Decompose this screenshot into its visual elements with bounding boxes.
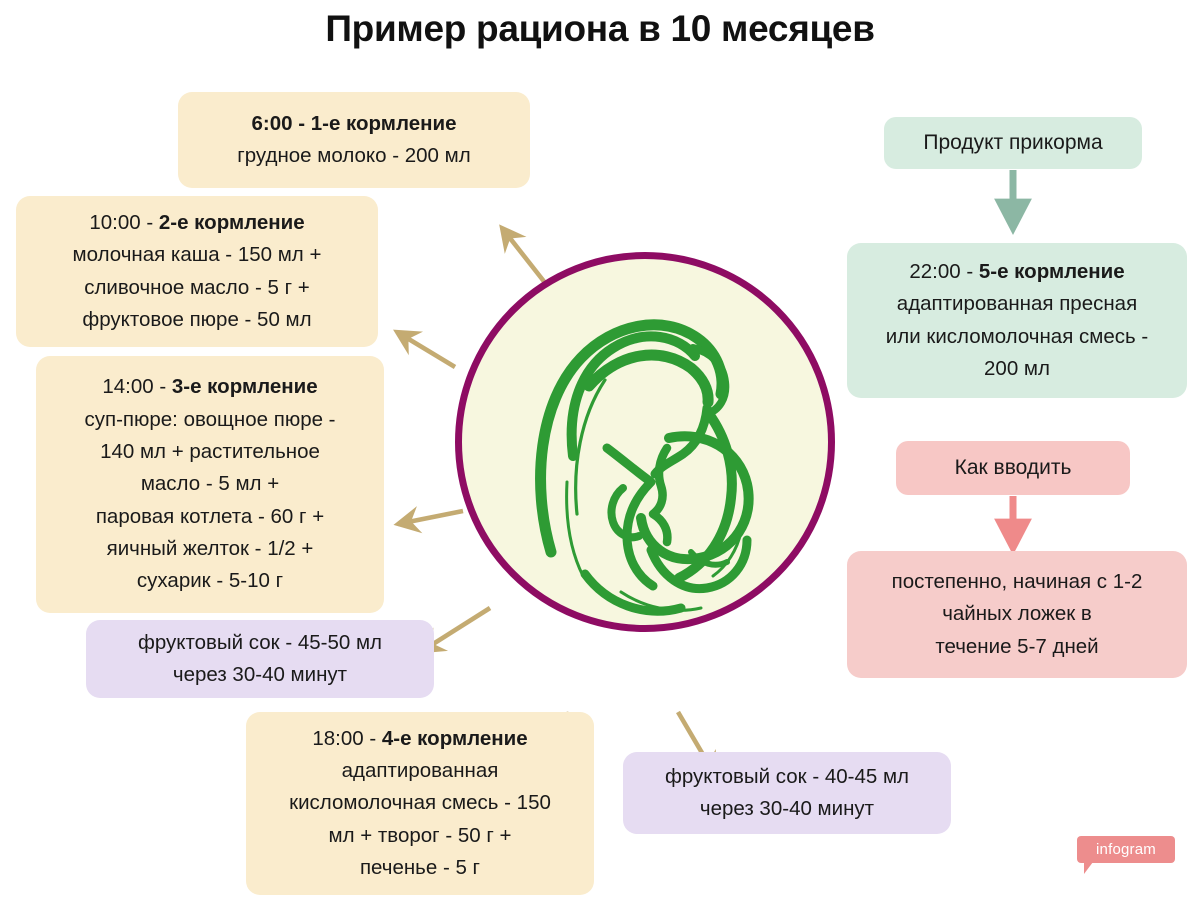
feeding-4-heading: 18:00 - 4-е кормление: [260, 723, 580, 755]
feeding-3-line-6: сухарик - 5-10 г: [50, 565, 370, 597]
feeding-3-line-2: 140 мл + растительное: [50, 436, 370, 468]
juice-1-line-2: через 30-40 минут: [100, 659, 420, 691]
howto-line-3: течение 5-7 дней: [861, 631, 1173, 663]
legend-complementary-label: Продукт прикорма: [884, 117, 1142, 169]
arrow-to-feeding-3: [398, 511, 463, 524]
feeding-card-5: 22:00 - 5-е кормление адаптированная пре…: [847, 243, 1187, 398]
page-title: Пример рациона в 10 месяцев: [0, 8, 1200, 50]
arrow-to-feeding-2: [397, 332, 455, 367]
feeding-card-4: 18:00 - 4-е кормление адаптированная кис…: [246, 712, 594, 895]
legend-howto-label: Как вводить: [896, 441, 1130, 495]
feeding-card-3: 14:00 - 3-е кормление суп-пюре: овощное …: [36, 356, 384, 613]
feeding-2-line-3: фруктовое пюре - 50 мл: [30, 304, 364, 336]
center-illustration: [455, 252, 835, 632]
legend-howto-detail-card: постепенно, начиная с 1-2 чайных ложек в…: [847, 551, 1187, 678]
juice-2-line-1: фруктовый сок - 40-45 мл: [637, 761, 937, 793]
feeding-3-line-5: яичный желток - 1/2 +: [50, 533, 370, 565]
feeding-3-line-4: паровая котлета - 60 г +: [50, 501, 370, 533]
feeding-1-heading: 6:00 - 1-е кормление: [192, 108, 516, 140]
feeding-4-line-2: кисломолочная смесь - 150: [260, 787, 580, 819]
feeding-3-line-3: масло - 5 мл +: [50, 468, 370, 500]
infographic-canvas: Пример рациона в 10 месяцев: [0, 0, 1200, 899]
feeding-3-heading: 14:00 - 3-е кормление: [50, 371, 370, 403]
legend-complementary-text: Продукт прикорма: [923, 131, 1102, 155]
feeding-5-heading: 22:00 - 5-е кормление: [861, 256, 1173, 288]
howto-line-2: чайных ложек в: [861, 598, 1173, 630]
watermark-bubble-tail: [1084, 862, 1093, 874]
feeding-2-line-1: молочная каша - 150 мл +: [30, 239, 364, 271]
howto-line-1: постепенно, начиная с 1-2: [861, 566, 1173, 598]
feeding-5-line-2: или кисломолочная смесь -: [861, 321, 1173, 353]
feeding-3-line-1: суп-пюре: овощное пюре -: [50, 404, 370, 436]
feeding-card-1: 6:00 - 1-е кормление грудное молоко - 20…: [178, 92, 530, 188]
watermark-label: infogram: [1077, 836, 1175, 863]
feeding-4-line-4: печенье - 5 г: [260, 852, 580, 884]
watermark: infogram: [1077, 836, 1175, 870]
feeding-4-line-1: адаптированная: [260, 755, 580, 787]
juice-note-card-1: фруктовый сок - 45-50 мл через 30-40 мин…: [86, 620, 434, 698]
juice-2-line-2: через 30-40 минут: [637, 793, 937, 825]
feeding-5-line-1: адаптированная пресная: [861, 288, 1173, 320]
feeding-card-2: 10:00 - 2-е кормление молочная каша - 15…: [16, 196, 378, 347]
feeding-2-heading: 10:00 - 2-е кормление: [30, 207, 364, 239]
feeding-5-line-3: 200 мл: [861, 353, 1173, 385]
mother-and-baby-icon: [455, 252, 835, 632]
feeding-2-line-2: сливочное масло - 5 г +: [30, 272, 364, 304]
juice-note-card-2: фруктовый сок - 40-45 мл через 30-40 мин…: [623, 752, 951, 834]
juice-1-line-1: фруктовый сок - 45-50 мл: [100, 627, 420, 659]
feeding-4-line-3: мл + творог - 50 г +: [260, 820, 580, 852]
feeding-1-line-1: грудное молоко - 200 мл: [192, 140, 516, 172]
legend-howto-text: Как вводить: [955, 456, 1072, 480]
